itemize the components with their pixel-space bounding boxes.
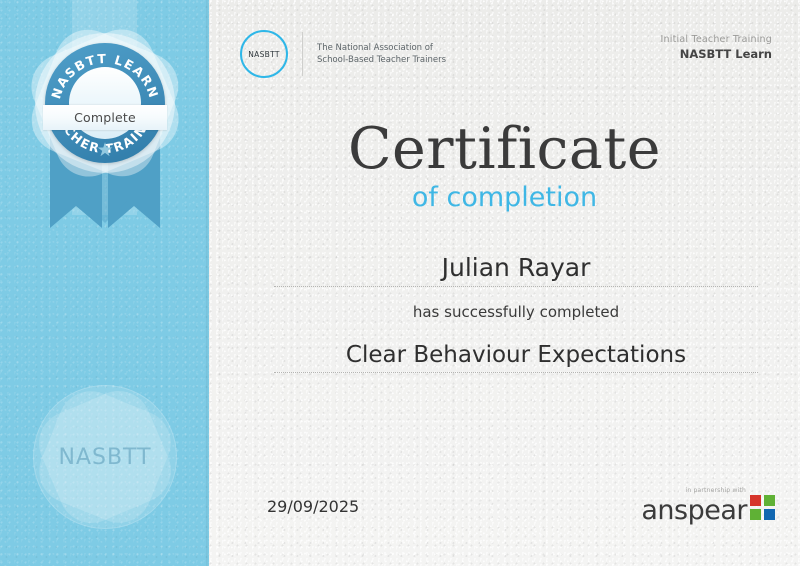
organisation-name-line1: The National Association of xyxy=(317,42,446,54)
anspear-square-green-top xyxy=(764,495,775,506)
band-edge-shadow xyxy=(206,0,209,566)
badge-ring: NASBTT LEARN TEACHER TRAINING ★ Complete xyxy=(45,43,165,163)
anspear-square-red xyxy=(750,495,761,506)
left-decorative-band: NASBTT LEARN TEACHER TRAINING ★ Complete… xyxy=(0,0,209,566)
programme-label-line2: NASBTT Learn xyxy=(661,47,772,61)
nasbtt-watermark: NASBTT xyxy=(33,385,177,529)
nasbtt-logo-lockup: NASBTT The National Association of Schoo… xyxy=(240,30,446,78)
partner-logo: in partnership with anspear xyxy=(641,487,776,525)
programme-label: Initial Teacher Training NASBTT Learn xyxy=(661,34,772,61)
badge-status-label: Complete xyxy=(74,110,136,125)
badge-status-band: Complete xyxy=(43,105,167,130)
anspear-wordmark: anspear xyxy=(641,497,747,525)
page-title: Certificate xyxy=(209,118,800,180)
star-icon: ★ xyxy=(96,141,115,160)
organisation-name-line2: School-Based Teacher Trainers xyxy=(317,54,446,66)
watermark-label: NASBTT xyxy=(33,385,177,529)
anspear-squares-icon xyxy=(750,495,776,521)
logo-divider xyxy=(302,32,303,76)
course-name: Clear Behaviour Expectations xyxy=(274,342,758,373)
programme-label-line1: Initial Teacher Training xyxy=(661,34,772,45)
anspear-square-green-bottom xyxy=(750,509,761,520)
partner-logo-row: anspear xyxy=(641,495,776,525)
issue-date: 29/09/2025 xyxy=(267,497,359,516)
anspear-square-blue xyxy=(764,509,775,520)
recipient-name: Julian Rayar xyxy=(274,253,758,287)
completion-badge: NASBTT LEARN TEACHER TRAINING ★ Complete xyxy=(35,33,175,173)
certificate-page: NASBTT LEARN TEACHER TRAINING ★ Complete… xyxy=(0,0,800,566)
nasbtt-circle-icon: NASBTT xyxy=(240,30,288,78)
nasbtt-circle-label: NASBTT xyxy=(248,50,279,59)
organisation-name: The National Association of School-Based… xyxy=(317,42,446,66)
page-subtitle: of completion xyxy=(209,182,800,213)
partner-label: in partnership with xyxy=(641,487,746,494)
completion-statement: has successfully completed xyxy=(274,303,758,321)
